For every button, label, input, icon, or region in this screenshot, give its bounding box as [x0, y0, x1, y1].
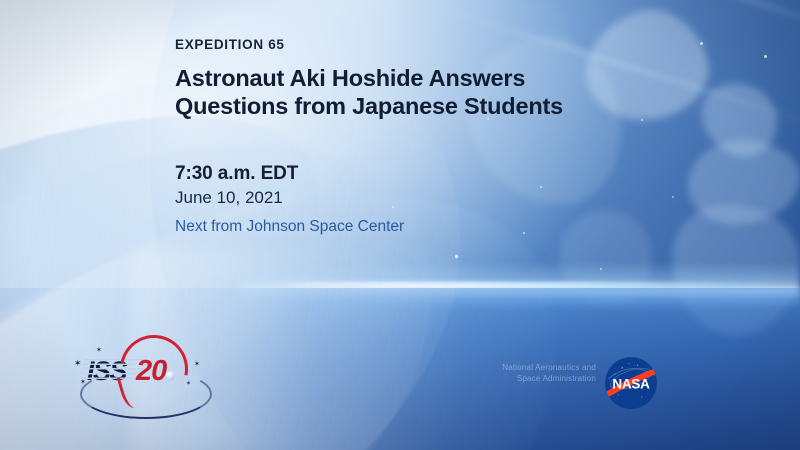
nasa-logo-lockup: National Aeronautics and Space Administr… [478, 356, 668, 410]
iss-sparkle-icon: ✶ [96, 347, 102, 354]
title-block: EXPEDITION 65 Astronaut Aki Hoshide Answ… [175, 38, 645, 121]
iss20-logo: ✶ ✶ ✶ ✶ ✶ ISS 20 [74, 335, 214, 411]
agency-line-1: National Aeronautics and [478, 362, 596, 373]
agency-line-2: Space Administration [478, 373, 596, 384]
nasa-agency-wordmark: National Aeronautics and Space Administr… [478, 362, 596, 385]
broadcast-time: 7:30 a.m. EDT [175, 163, 404, 185]
next-from-location: Next from Johnson Space Center [175, 217, 404, 237]
nasa-broadcast-slide: EXPEDITION 65 Astronaut Aki Hoshide Answ… [0, 0, 800, 450]
headline-line-2: Questions from Japanese Students [175, 92, 645, 121]
broadcast-date: June 10, 2021 [175, 187, 404, 209]
iss-sparkle-icon: ✶ [194, 361, 200, 368]
headline-line-1: Astronaut Aki Hoshide Answers [175, 64, 645, 93]
nasa-meatball-icon: NASA [604, 356, 658, 410]
schedule-block: 7:30 a.m. EDT June 10, 2021 Next from Jo… [175, 163, 404, 237]
iss-sparkle-icon: ✶ [74, 359, 82, 368]
expedition-label: EXPEDITION 65 [175, 38, 645, 52]
svg-text:NASA: NASA [612, 376, 650, 391]
